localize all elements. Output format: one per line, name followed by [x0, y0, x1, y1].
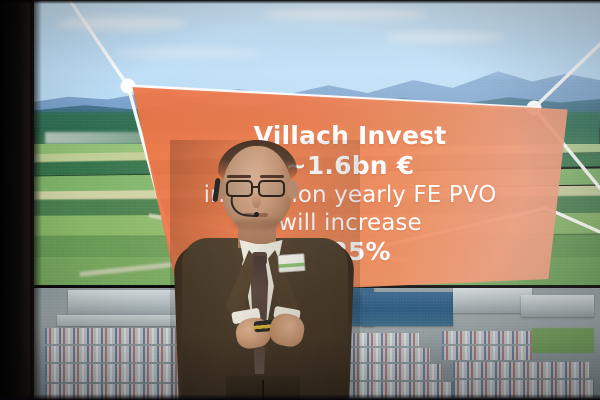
cloud: [260, 8, 430, 20]
cloud: [57, 16, 187, 30]
cloud: [385, 32, 505, 42]
screen-edge-top: [0, 0, 600, 4]
screen-edge-bottom: [0, 394, 600, 400]
eyeglasses-lens-right: [258, 180, 285, 197]
speaker: [170, 140, 360, 400]
eyebrow-left: [227, 175, 251, 178]
ear-right: [287, 180, 299, 199]
cloud: [113, 48, 263, 57]
screen-bezel-left: [0, 0, 34, 400]
screen-bezel-falloff: [30, 0, 42, 400]
headset-microphone-tip: [254, 212, 259, 217]
eyebrow-right: [260, 175, 284, 178]
presentation-photo: Villach Invest ~1.6bn € in addition year…: [0, 0, 600, 400]
eyeglasses-bridge: [253, 186, 259, 188]
name-badge: [277, 253, 305, 273]
chin-shadow: [232, 218, 284, 230]
